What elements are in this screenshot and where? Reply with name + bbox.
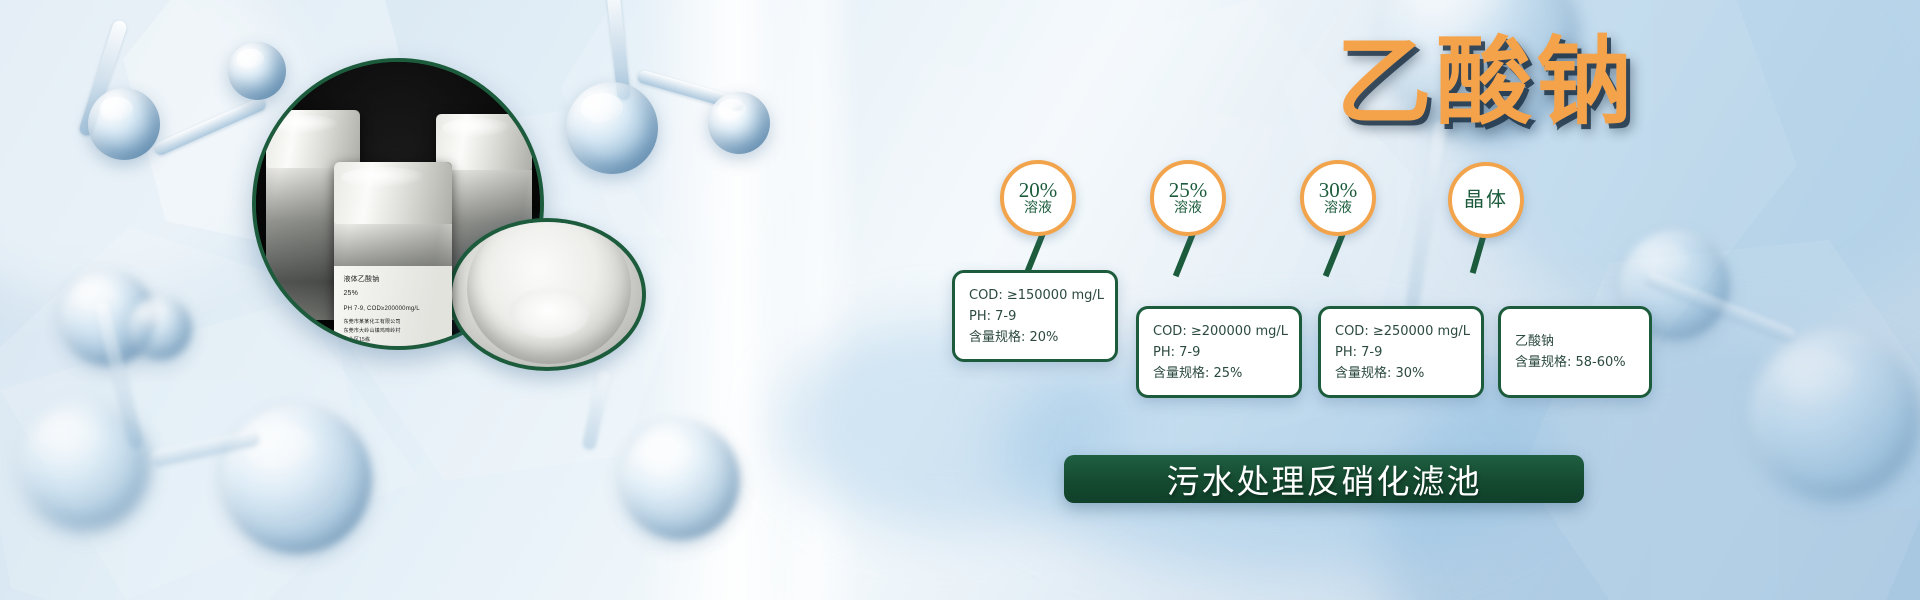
badge-value: 20% [1019,180,1058,200]
badge-connector-3 [1323,229,1347,278]
light-beam [770,0,860,600]
label-line-3: PH 7-9, COD≥200000mg/L [343,306,419,312]
spec-ph: PH: 7-9 [1335,342,1467,363]
spec-content: 含量规格: 20% [969,327,1101,348]
badge-25-percent[interactable]: 25% 溶液 [1150,160,1226,236]
ribbon-text: 污水处理反硝化滤池 [1167,455,1482,503]
spec-card-25[interactable]: COD: ≥200000 mg/L PH: 7-9 含量规格: 25% [1136,306,1302,398]
badge-crystal[interactable]: 晶体 [1448,162,1524,238]
bottle-cap [334,162,452,224]
molecule-atom [128,296,192,360]
product-photo-powder [448,218,646,371]
bottle-label: 液体乙酸钠 25% PH 7-9, COD≥200000mg/L 东莞市某某化工… [334,266,452,346]
molecule-atom [1750,330,1920,500]
bottle-front: 液体乙酸钠 25% PH 7-9, COD≥200000mg/L 东莞市某某化工… [334,162,452,346]
label-line-1: 液体乙酸钠 [343,274,379,284]
label-line-5: 东莞市大岭山镇鸡啼岭村 [343,327,400,334]
molecule-atom [222,404,372,554]
bottle-cap [436,114,532,170]
molecule-atom [20,400,150,530]
spec-card-crystal[interactable]: 乙酸钠 含量规格: 58-60% [1498,306,1652,398]
badge-sub: 溶液 [1324,200,1352,216]
molecule-atom [620,420,740,540]
label-line-6: 工业区15栋 [343,336,370,343]
molecule-bond [1405,120,1448,310]
badge-value: 晶体 [1464,190,1508,210]
spec-content: 含量规格: 58-60% [1515,352,1635,373]
molecule-atom [88,88,160,160]
white-powder [509,289,589,338]
page-title: 乙酸钠 [1336,34,1636,130]
spec-name: 乙酸钠 [1515,331,1635,352]
molecule-atom [708,92,770,154]
spec-card-20[interactable]: COD: ≥150000 mg/L PH: 7-9 含量规格: 20% [952,270,1118,362]
spec-ph: PH: 7-9 [1153,342,1285,363]
spec-content: 含量规格: 25% [1153,363,1285,384]
molecule-atom [566,82,658,174]
badge-connector-2 [1173,229,1197,278]
spec-card-30[interactable]: COD: ≥250000 mg/L PH: 7-9 含量规格: 30% [1318,306,1484,398]
molecule-bond [153,96,268,157]
badge-sub: 溶液 [1024,200,1052,216]
spec-ph: PH: 7-9 [969,306,1101,327]
label-line-4: 东莞市某某化工有限公司 [343,318,400,325]
badge-20-percent[interactable]: 20% 溶液 [1000,160,1076,236]
application-ribbon: 污水处理反硝化滤池 [1064,455,1584,503]
spec-cod: COD: ≥250000 mg/L [1335,321,1467,342]
bottle-cap [266,110,360,168]
badge-value: 30% [1319,180,1358,200]
product-banner: 液体乙酸钠 25% PH 7-9, COD≥200000mg/L 东莞市某某化工… [0,0,1920,600]
badge-30-percent[interactable]: 30% 溶液 [1300,160,1376,236]
badge-sub: 溶液 [1174,200,1202,216]
label-line-2: 25% [343,290,358,297]
spec-cod: COD: ≥150000 mg/L [969,285,1101,306]
spec-cod: COD: ≥200000 mg/L [1153,321,1285,342]
molecule-bond [582,370,611,451]
spec-content: 含量规格: 30% [1335,363,1467,384]
badge-value: 25% [1169,180,1208,200]
